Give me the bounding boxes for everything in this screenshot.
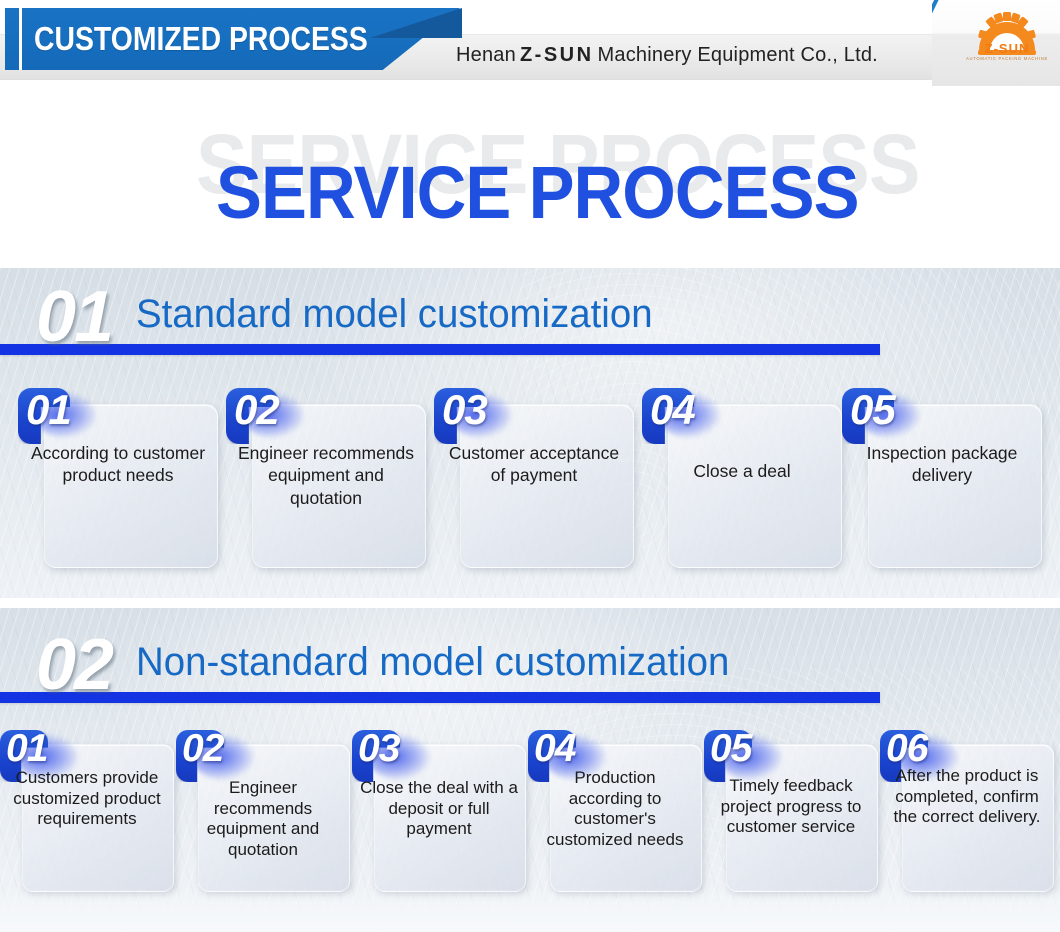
- section-non-standard-model: 02 Non-standard model customization 01 C…: [0, 608, 1060, 932]
- logo-tagline: AUTOMATIC PACKING MACHINE: [962, 56, 1052, 61]
- section-divider: [0, 598, 1060, 608]
- card-text: Close the deal with a deposit or full pa…: [360, 778, 518, 840]
- page-header: CUSTOMIZED PROCESS HenanZ-SUNMachinery E…: [0, 0, 1060, 92]
- process-card[interactable]: 02 Engineer recommends equipment and quo…: [176, 730, 350, 892]
- card-number: 02: [182, 727, 223, 771]
- card-number: 06: [886, 727, 927, 771]
- card-number: 04: [534, 727, 575, 771]
- section-rule: [0, 692, 880, 703]
- process-card[interactable]: 01 According to customer product needs: [18, 388, 218, 568]
- section-title: Non-standard model customization: [136, 640, 729, 685]
- card-text: Engineer recommends equipment and quotat…: [234, 442, 418, 509]
- company-name: HenanZ-SUNMachinery Equipment Co., Ltd.: [456, 44, 878, 67]
- header-banner-stripe: [19, 8, 22, 70]
- card-number: 02: [234, 386, 279, 434]
- page-title: SERVICE PROCESS: [216, 150, 859, 235]
- process-card[interactable]: 04 Production according to customer's cu…: [528, 730, 702, 892]
- process-card[interactable]: 04 Close a deal: [642, 388, 842, 568]
- section-rule: [0, 344, 880, 355]
- card-text: Customers provide customized product req…: [8, 768, 166, 830]
- company-brand: Z-SUN: [516, 44, 598, 66]
- section-heading: 02 Non-standard model customization: [0, 630, 1060, 716]
- brand-logo[interactable]: Z-SUN AUTOMATIC PACKING MACHINE: [932, 0, 1060, 86]
- process-card[interactable]: 03 Customer acceptance of payment: [434, 388, 634, 568]
- company-name-suffix: Machinery Equipment Co., Ltd.: [598, 44, 878, 66]
- card-number: 03: [442, 386, 487, 434]
- card-number: 01: [26, 386, 71, 434]
- card-text: According to customer product needs: [26, 442, 210, 487]
- process-card[interactable]: 06 After the product is completed, confi…: [880, 730, 1054, 892]
- process-card[interactable]: 05 Timely feedback project progress to c…: [704, 730, 878, 892]
- header-banner-label: CUSTOMIZED PROCESS: [34, 20, 368, 58]
- page-title-block: SERVICE PROCESS SERVICE PROCESS: [0, 92, 1060, 268]
- process-card[interactable]: 03 Close the deal with a deposit or full…: [352, 730, 526, 892]
- company-name-prefix: Henan: [456, 44, 516, 66]
- section-number: 01: [36, 276, 112, 358]
- card-number: 04: [650, 386, 695, 434]
- card-number: 05: [710, 727, 751, 771]
- card-text: Customer acceptance of payment: [442, 442, 626, 487]
- section-heading: 01 Standard model customization: [0, 282, 1060, 368]
- section-standard-model: 01 Standard model customization 01 Accor…: [0, 268, 1060, 598]
- card-text: Engineer recommends equipment and quotat…: [184, 778, 342, 861]
- service-process-page: CUSTOMIZED PROCESS HenanZ-SUNMachinery E…: [0, 0, 1060, 932]
- card-number: 01: [6, 727, 47, 771]
- process-card[interactable]: 02 Engineer recommends equipment and quo…: [226, 388, 426, 568]
- card-text: Production according to customer's custo…: [536, 768, 694, 851]
- card-text: Close a deal: [650, 460, 834, 482]
- logo-wordmark: Z-SUN: [970, 41, 1044, 56]
- section-title: Standard model customization: [136, 292, 653, 337]
- process-card[interactable]: 05 Inspection package delivery: [842, 388, 1042, 568]
- section-number: 02: [36, 624, 112, 706]
- card-number: 03: [358, 727, 399, 771]
- card-text: Timely feedback project progress to cust…: [706, 776, 876, 838]
- card-text: Inspection package delivery: [850, 442, 1034, 487]
- card-number: 05: [850, 386, 895, 434]
- card-text: After the product is completed, confirm …: [882, 766, 1052, 828]
- process-card[interactable]: 01 Customers provide customized product …: [0, 730, 174, 892]
